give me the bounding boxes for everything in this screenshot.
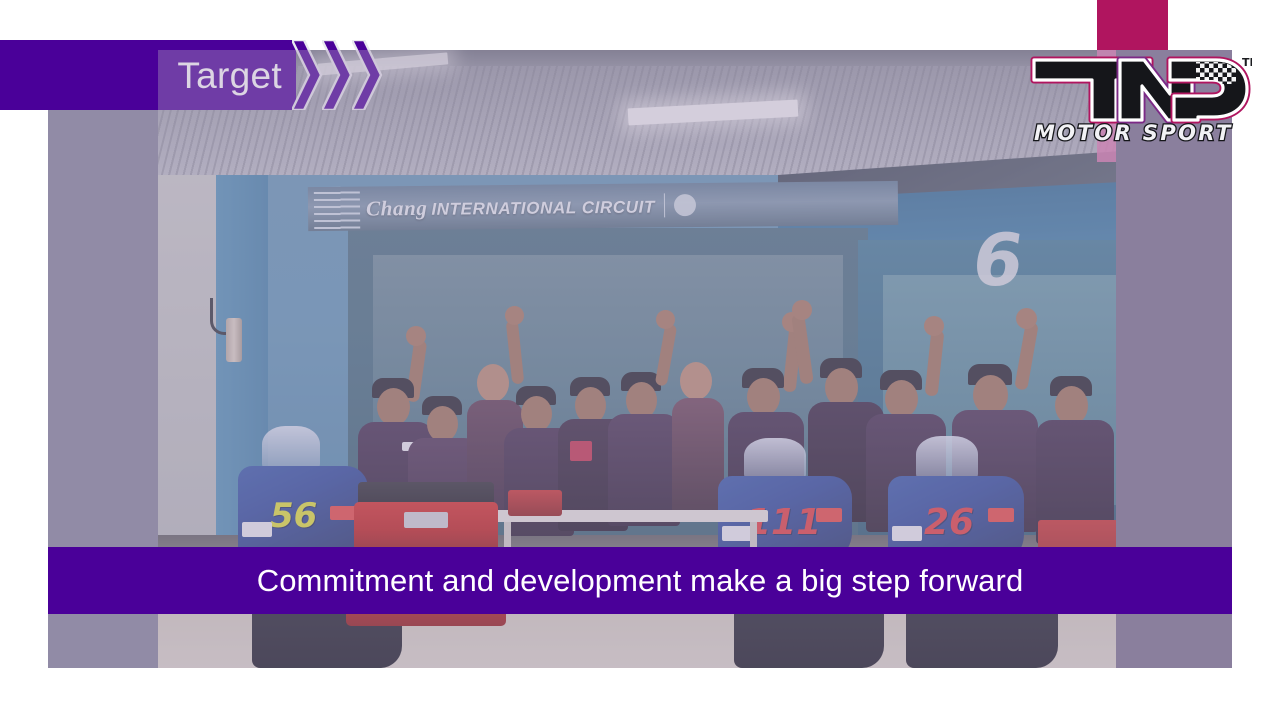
- tnp-motorsport-logo[interactable]: TM MOTOR SPORT: [1020, 50, 1252, 146]
- magenta-corner-tab: [1097, 0, 1168, 50]
- caption-band: Commitment and development make a big st…: [48, 547, 1232, 614]
- caption-text: Commitment and development make a big st…: [257, 563, 1024, 599]
- logo-tagline: MOTOR SPORT: [1034, 121, 1233, 145]
- trademark-symbol: TM: [1242, 56, 1252, 69]
